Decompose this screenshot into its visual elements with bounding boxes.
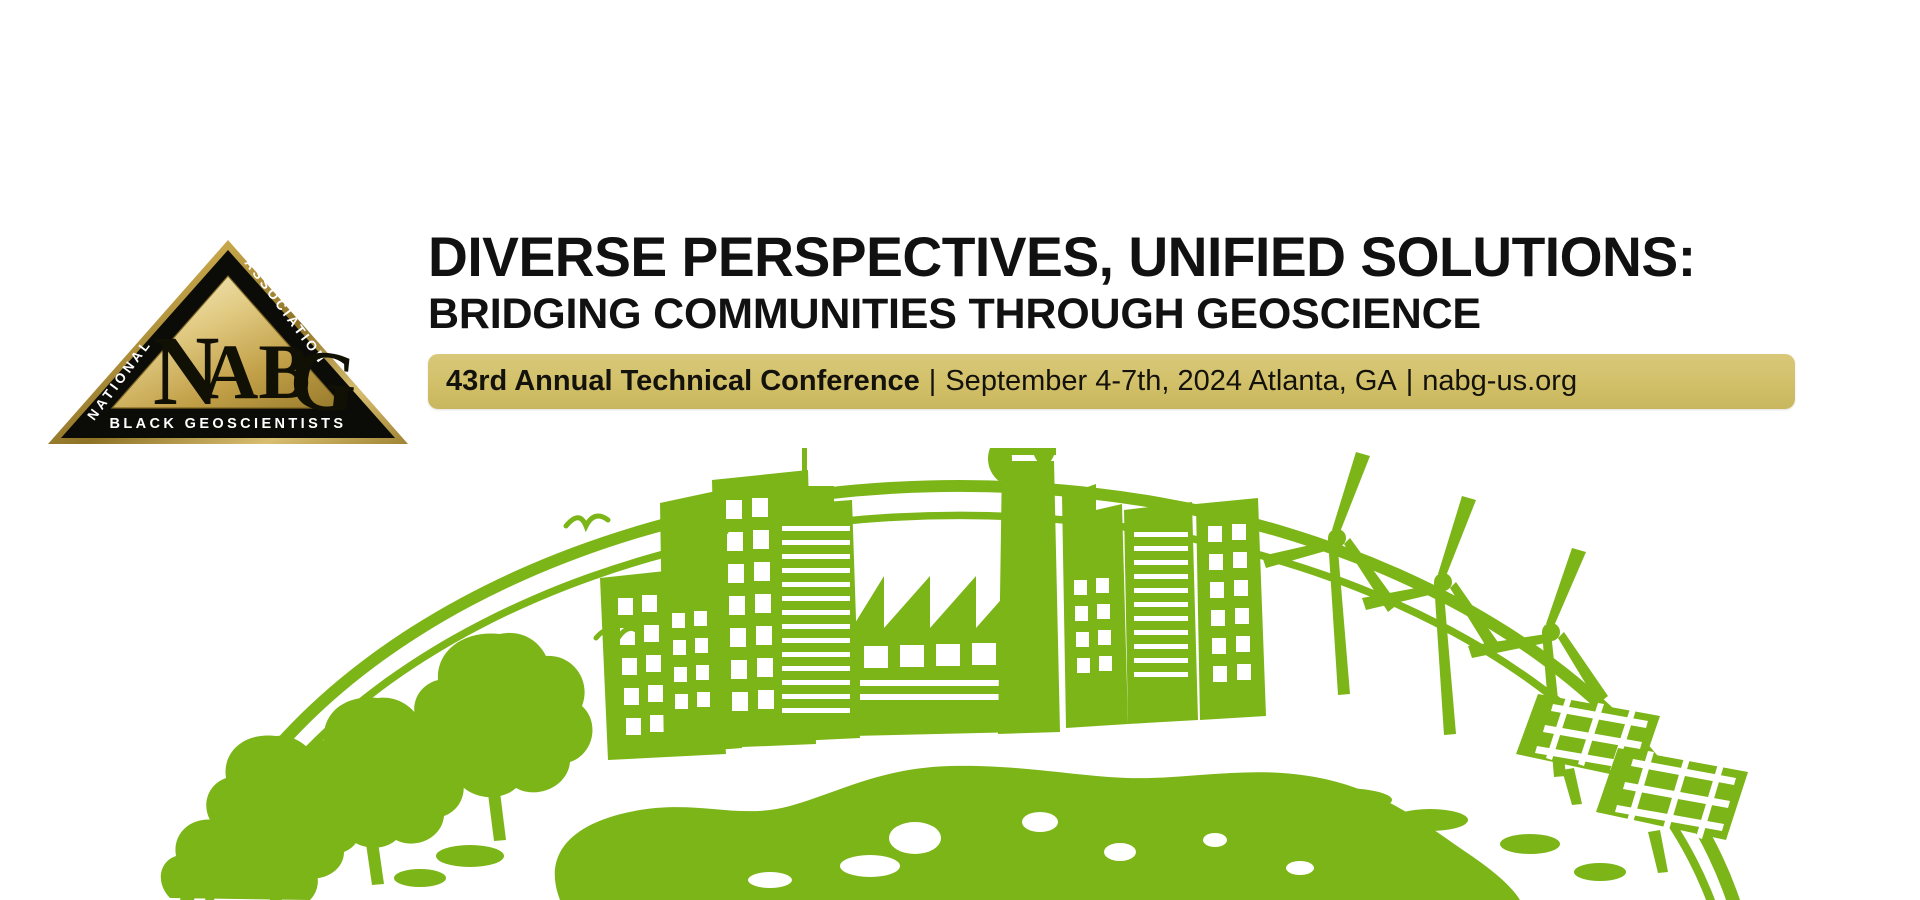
nabg-logo: NATIONAL ASSOCIATION N AB G BLACK GEOSCI…: [44, 236, 412, 448]
city-skyline: [600, 448, 1266, 760]
bird-1: [566, 516, 608, 526]
title-block: DIVERSE PERSPECTIVES, UNIFIED SOLUTIONS:…: [428, 228, 1828, 409]
factory: [852, 576, 1022, 736]
conference-info-banner: 43rd Annual Technical Conference | Septe…: [428, 354, 1795, 409]
building-7: [1196, 498, 1266, 720]
headline-line-1: DIVERSE PERSPECTIVES, UNIFIED SOLUTIONS:: [428, 228, 1807, 286]
logo-monogram: N AB G: [153, 316, 362, 432]
banner-separator-1: |: [920, 367, 946, 396]
building-5: [1062, 484, 1128, 728]
eco-globe-illustration: [0, 448, 1920, 900]
solar-panel-2: [1596, 748, 1748, 873]
conference-website[interactable]: nabg-us.org: [1422, 367, 1577, 396]
conference-banner-page: NATIONAL ASSOCIATION N AB G BLACK GEOSCI…: [0, 0, 1920, 900]
header: NATIONAL ASSOCIATION N AB G BLACK GEOSCI…: [0, 228, 1920, 448]
logo-base-text: BLACK GEOSCIENTISTS: [110, 416, 347, 432]
globe-continents: [394, 766, 1626, 900]
headline-line-2: BRIDGING COMMUNITIES THROUGH GEOSCIENCE: [428, 292, 1828, 337]
banner-separator-2: |: [1397, 367, 1423, 396]
trees: [161, 633, 593, 900]
building-6: [1124, 502, 1198, 724]
conference-dates-location: September 4-7th, 2024 Atlanta, GA: [945, 367, 1396, 396]
conference-name: 43rd Annual Technical Conference: [446, 367, 920, 396]
